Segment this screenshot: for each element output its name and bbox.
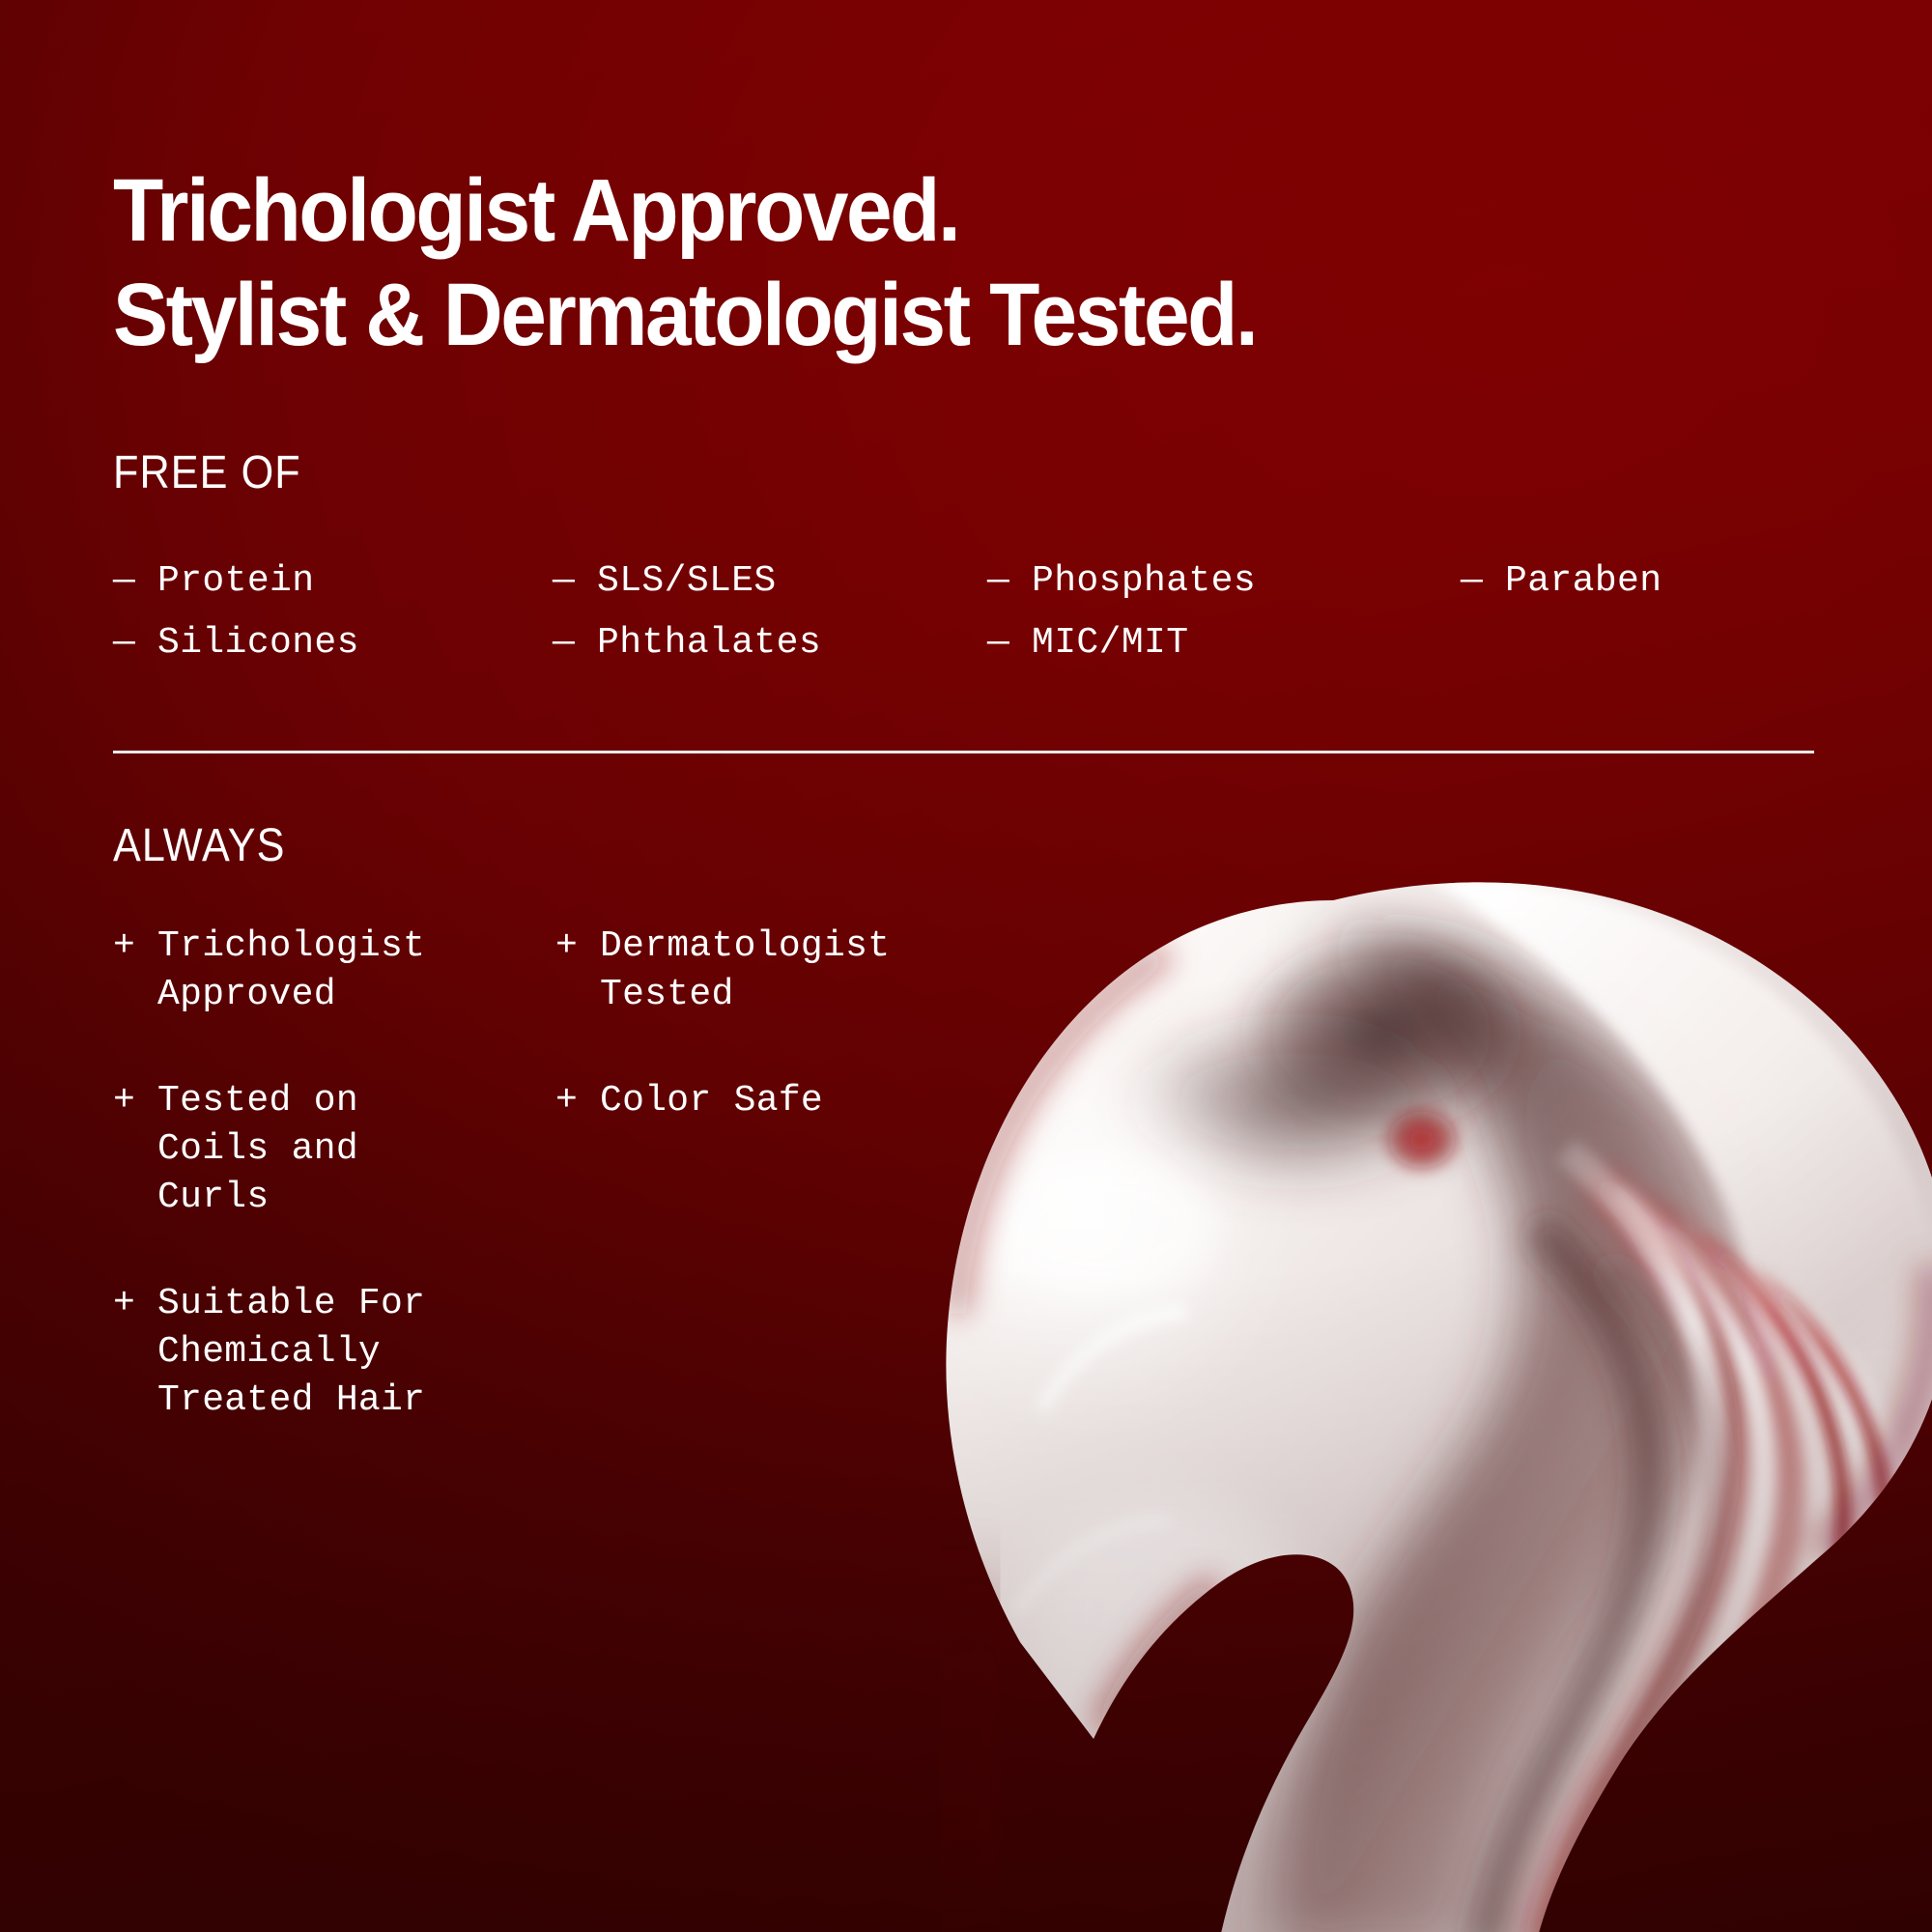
free-of-item-label: Phthalates — [597, 612, 821, 674]
content-layer: Trichologist Approved. Stylist & Dermato… — [0, 0, 1932, 1932]
always-item-label: Suitable For Chemically Treated Hair — [157, 1280, 476, 1425]
dash-icon: — — [113, 612, 157, 674]
plus-icon: + — [113, 1077, 157, 1125]
free-of-item-label: MIC/MIT — [1032, 612, 1188, 674]
free-of-item: — MIC/MIT — [987, 612, 1461, 674]
always-item-label: Color Safe — [600, 1077, 823, 1125]
always-list: + Trichologist Approved + Dermatologist … — [113, 923, 982, 1483]
dash-icon: — — [553, 551, 597, 612]
free-of-item: — Phthalates — [553, 612, 987, 674]
free-of-item-label: Phosphates — [1032, 551, 1256, 612]
free-of-item-label: Silicones — [157, 612, 359, 674]
free-of-item-empty — [1461, 612, 1828, 674]
headline-line-1: Trichologist Approved. — [113, 158, 1256, 264]
free-of-item: — Silicones — [113, 612, 553, 674]
dash-icon: — — [987, 612, 1032, 674]
dash-icon: — — [113, 551, 157, 612]
plus-icon: + — [113, 923, 157, 971]
section-divider — [113, 751, 1814, 753]
section-label-always: ALWAYS — [113, 819, 286, 872]
headline-line-2: Stylist & Dermatologist Tested. — [113, 263, 1256, 368]
page-title: Trichologist Approved. Stylist & Dermato… — [113, 158, 1256, 368]
always-row: + Trichologist Approved + Dermatologist … — [113, 923, 982, 1019]
plus-icon: + — [555, 923, 600, 971]
product-claims-graphic: Trichologist Approved. Stylist & Dermato… — [0, 0, 1932, 1932]
free-of-item-label: Paraben — [1505, 551, 1662, 612]
free-of-item: — Paraben — [1461, 551, 1828, 612]
free-of-item-label: SLS/SLES — [597, 551, 777, 612]
plus-icon: + — [555, 1077, 600, 1125]
always-item: + Dermatologist Tested — [555, 923, 980, 1019]
always-item-label: Trichologist Approved — [157, 923, 476, 1019]
section-label-free-of: FREE OF — [113, 446, 301, 499]
always-item: + Tested on Coils and Curls — [113, 1077, 555, 1222]
always-row: + Suitable For Chemically Treated Hair — [113, 1280, 982, 1425]
always-item-label: Tested on Coils and Curls — [157, 1077, 476, 1222]
plus-icon: + — [113, 1280, 157, 1328]
free-of-item: — Protein — [113, 551, 553, 612]
free-of-item: — SLS/SLES — [553, 551, 987, 612]
always-item: + Trichologist Approved — [113, 923, 555, 1019]
free-of-list: — Protein — SLS/SLES — Phosphates — Para… — [113, 551, 1833, 674]
dash-icon: — — [1461, 551, 1505, 612]
always-item-label: Dermatologist Tested — [600, 923, 919, 1019]
dash-icon: — — [987, 551, 1032, 612]
always-row: + Tested on Coils and Curls + Color Safe — [113, 1077, 982, 1222]
always-item: + Color Safe — [555, 1077, 980, 1125]
dash-icon: — — [553, 612, 597, 674]
free-of-item: — Phosphates — [987, 551, 1461, 612]
free-of-item-label: Protein — [157, 551, 314, 612]
always-item: + Suitable For Chemically Treated Hair — [113, 1280, 555, 1425]
